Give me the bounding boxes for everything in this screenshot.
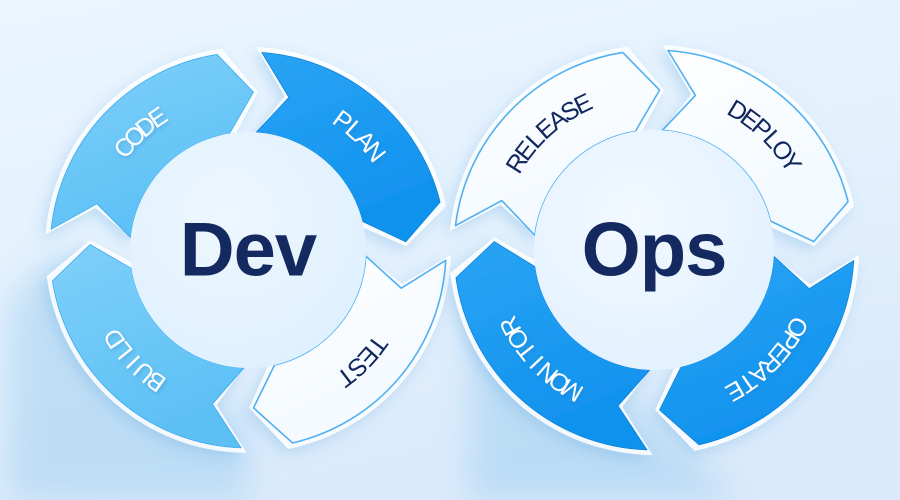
ops-center-label: Ops (582, 208, 727, 293)
devops-infinity-svg: Dev Ops CODEPLANTESTBUILDRELEASEDEPLOYOP… (0, 0, 900, 500)
devops-diagram-canvas: Dev Ops CODEPLANTESTBUILDRELEASEDEPLOYOP… (0, 0, 900, 500)
dev-center-label: Dev (180, 208, 317, 293)
